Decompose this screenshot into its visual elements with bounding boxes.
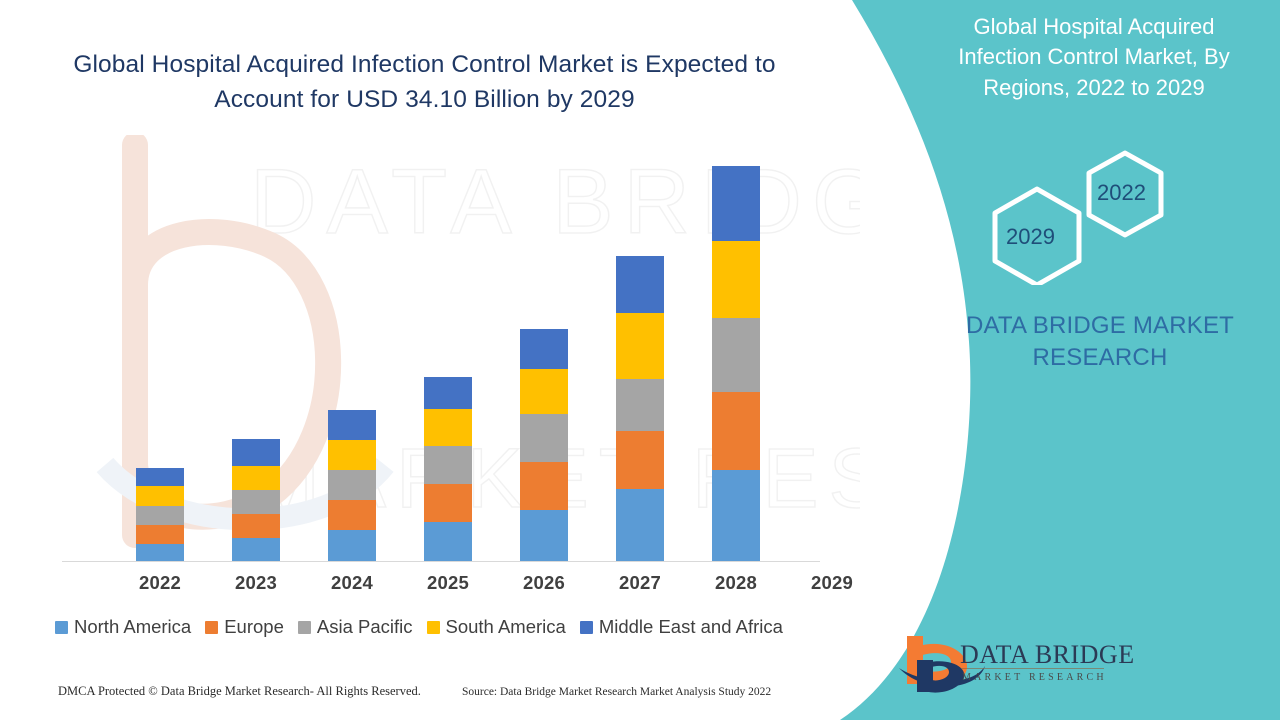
bar-segment-2027-south-america	[616, 313, 664, 379]
bar-segment-2022-south-america	[136, 486, 184, 506]
bar-segment-2023-asia-pacific	[232, 490, 280, 514]
bar-segment-2026-middle-east-and-africa	[520, 329, 568, 369]
legend-item-middle-east-and-africa[interactable]: Middle East and Africa	[580, 616, 783, 638]
bar-segment-2028-asia-pacific	[712, 318, 760, 392]
bar-segment-2026-asia-pacific	[520, 414, 568, 462]
page-title: Global Hospital Acquired Infection Contr…	[52, 48, 797, 118]
x-axis-label-2025: 2025	[400, 572, 496, 594]
legend-item-label: Europe	[224, 616, 284, 638]
chart-x-axis-line	[62, 561, 820, 562]
legend-item-europe[interactable]: Europe	[205, 616, 284, 638]
bar-segment-2025-asia-pacific	[424, 446, 472, 484]
bar-segment-2023-europe	[232, 514, 280, 538]
hexagon-outlines-icon	[975, 145, 1185, 285]
bar-segment-2027-north-america	[616, 489, 664, 562]
chart-legend: North AmericaEuropeAsia PacificSouth Ame…	[55, 616, 845, 638]
bar-segment-2022-north-america	[136, 544, 184, 562]
bar-segment-2022-europe	[136, 525, 184, 544]
legend-swatch-icon	[298, 621, 311, 634]
bar-segment-2025-south-america	[424, 409, 472, 446]
chart-plot-area	[62, 130, 820, 562]
bar-column-2022	[136, 468, 184, 562]
bar-column-2028	[712, 166, 760, 562]
legend-swatch-icon	[427, 621, 440, 634]
legend-item-south-america[interactable]: South America	[427, 616, 566, 638]
bar-segment-2023-middle-east-and-africa	[232, 439, 280, 466]
bar-segment-2024-north-america	[328, 530, 376, 562]
bar-segment-2028-north-america	[712, 470, 760, 562]
bar-column-2024	[328, 410, 376, 562]
bar-segment-2027-asia-pacific	[616, 379, 664, 431]
logo-divider	[961, 668, 1104, 669]
bar-segment-2023-north-america	[232, 538, 280, 562]
brand-panel-title: Global Hospital Acquired Infection Contr…	[944, 12, 1244, 103]
bar-segment-2022-middle-east-and-africa	[136, 468, 184, 486]
bar-segment-2025-north-america	[424, 522, 472, 562]
hexagon-group: 2022 2029	[975, 145, 1185, 285]
bar-segment-2026-north-america	[520, 510, 568, 562]
bar-segment-2025-middle-east-and-africa	[424, 377, 472, 409]
logo-sub-text: MARKET RESEARCH	[962, 672, 1107, 683]
x-axis-label-2023: 2023	[208, 572, 304, 594]
bar-segment-2024-europe	[328, 500, 376, 530]
footer-copyright: DMCA Protected © Data Bridge Market Rese…	[58, 684, 421, 699]
legend-item-label: Middle East and Africa	[599, 616, 783, 638]
chart-x-axis-labels: 20222023202420252026202720282029	[62, 572, 820, 602]
bar-column-2025	[424, 377, 472, 562]
legend-swatch-icon	[205, 621, 218, 634]
bar-segment-2024-middle-east-and-africa	[328, 410, 376, 440]
bar-column-2026	[520, 329, 568, 562]
bar-segment-2023-south-america	[232, 466, 280, 490]
legend-swatch-icon	[55, 621, 68, 634]
x-axis-label-2028: 2028	[688, 572, 784, 594]
bar-column-2027	[616, 256, 664, 562]
bar-column-2023	[232, 439, 280, 562]
x-axis-label-2022: 2022	[112, 572, 208, 594]
legend-item-label: Asia Pacific	[317, 616, 413, 638]
bar-segment-2022-asia-pacific	[136, 506, 184, 525]
bar-segment-2026-south-america	[520, 369, 568, 414]
brand-name-text: DATA BRIDGE MARKET RESEARCH	[950, 310, 1250, 375]
legend-item-north-america[interactable]: North America	[55, 616, 191, 638]
hexagon-label-2029: 2029	[1006, 224, 1055, 250]
legend-item-label: North America	[74, 616, 191, 638]
bar-segment-2028-middle-east-and-africa	[712, 166, 760, 241]
x-axis-label-2024: 2024	[304, 572, 400, 594]
bar-segment-2025-europe	[424, 484, 472, 522]
bar-segment-2028-south-america	[712, 241, 760, 318]
legend-item-label: South America	[446, 616, 566, 638]
footer-source: Source: Data Bridge Market Research Mark…	[462, 686, 771, 698]
hexagon-label-2022: 2022	[1097, 180, 1146, 206]
bar-segment-2024-south-america	[328, 440, 376, 470]
bar-segment-2024-asia-pacific	[328, 470, 376, 500]
bar-segment-2027-europe	[616, 431, 664, 489]
legend-swatch-icon	[580, 621, 593, 634]
x-axis-label-2027: 2027	[592, 572, 688, 594]
bar-segment-2027-middle-east-and-africa	[616, 256, 664, 313]
x-axis-label-2026: 2026	[496, 572, 592, 594]
logo-main-text: DATA BRIDGE	[960, 640, 1135, 670]
bar-segment-2028-europe	[712, 392, 760, 470]
infographic-root: DATA BRIDGE MARKET RESEARCH Global Hospi…	[0, 0, 1280, 720]
bar-segment-2026-europe	[520, 462, 568, 510]
legend-item-asia-pacific[interactable]: Asia Pacific	[298, 616, 413, 638]
